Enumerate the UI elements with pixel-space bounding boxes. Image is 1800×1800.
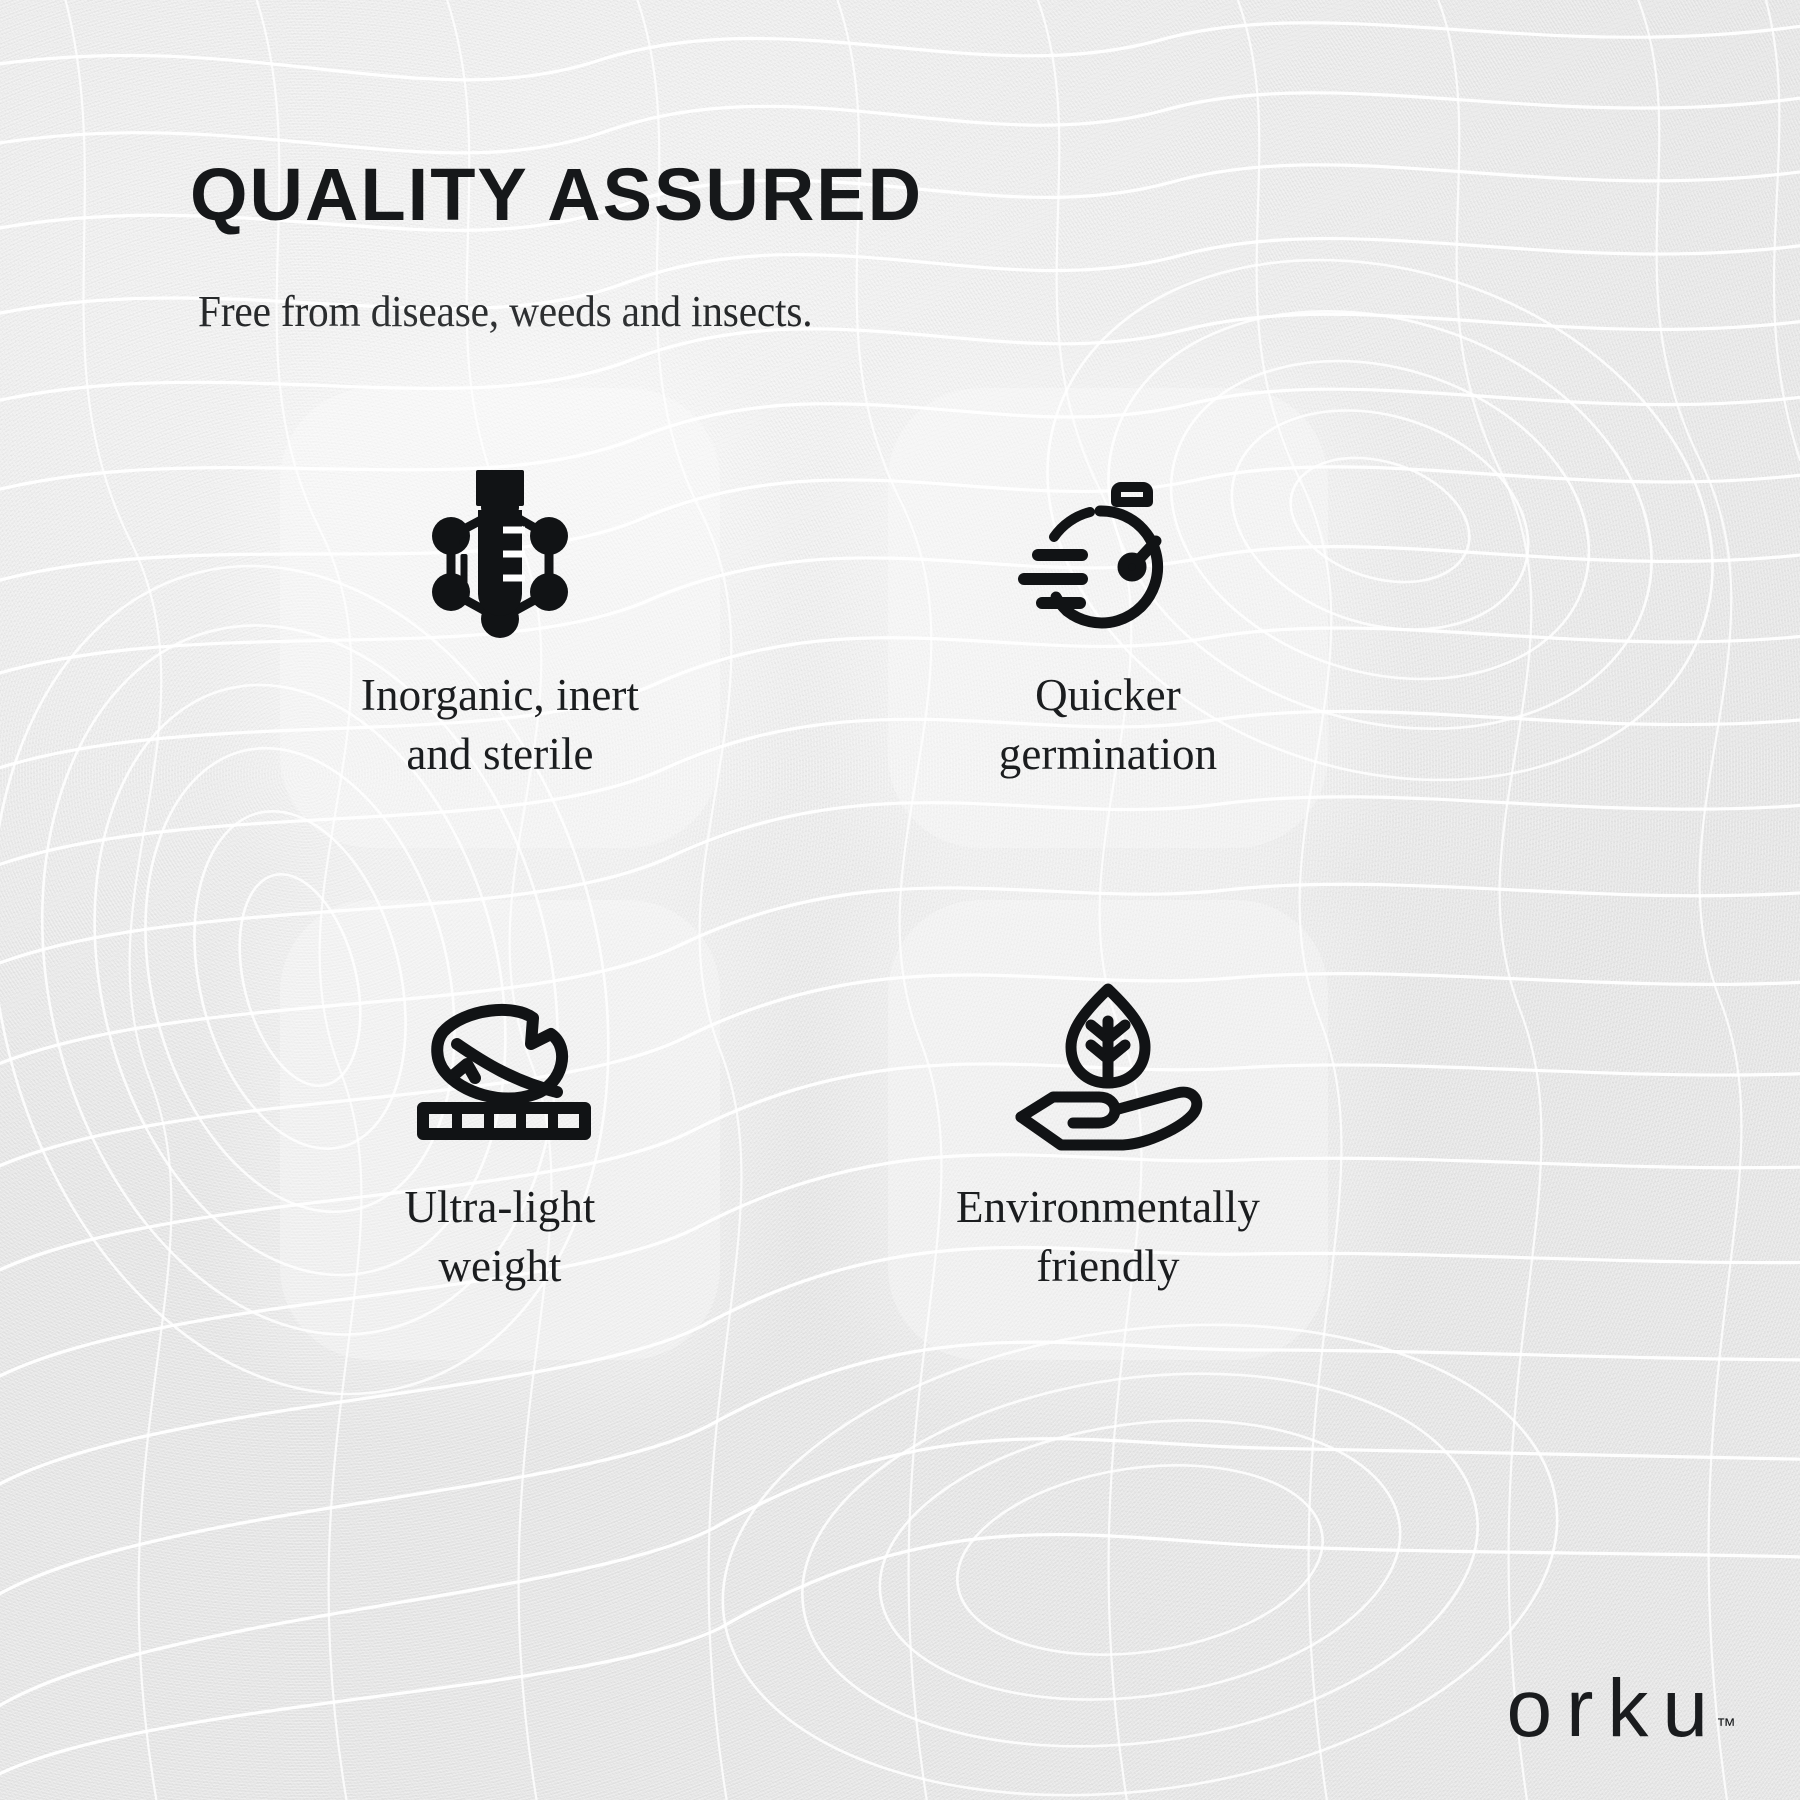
brand-wordmark: orku <box>1506 1671 1722 1746</box>
feature-card-label: Environmentally friendly <box>956 1178 1260 1295</box>
feature-card-label: Inorganic, inert and sterile <box>361 666 639 783</box>
brand-logo[interactable]: orku ™ <box>1506 1671 1736 1746</box>
poster-canvas: QUALITY ASSURED Free from disease, weeds… <box>0 0 1800 1800</box>
leaf-on-scale-icon <box>400 974 600 1160</box>
trademark-symbol: ™ <box>1716 1715 1736 1738</box>
feature-card-label: Ultra-light weight <box>404 1178 595 1295</box>
feature-card-label: Quicker germination <box>999 666 1218 783</box>
feature-card-eco[interactable]: Environmentally friendly <box>888 900 1328 1360</box>
feature-card-inorganic[interactable]: Inorganic, inert and sterile <box>280 388 720 848</box>
page-subtitle: Free from disease, weeds and insects. <box>198 286 812 337</box>
feature-card-germination[interactable]: Quicker germination <box>888 388 1328 848</box>
page-title: QUALITY ASSURED <box>190 152 923 237</box>
hand-holding-leaf-icon <box>1008 974 1208 1160</box>
stopwatch-speed-icon <box>1008 462 1208 648</box>
feature-card-ultralight[interactable]: Ultra-light weight <box>280 900 720 1360</box>
feature-card-grid: Inorganic, inert and sterile <box>280 388 1380 1358</box>
test-tube-molecule-icon <box>400 462 600 648</box>
